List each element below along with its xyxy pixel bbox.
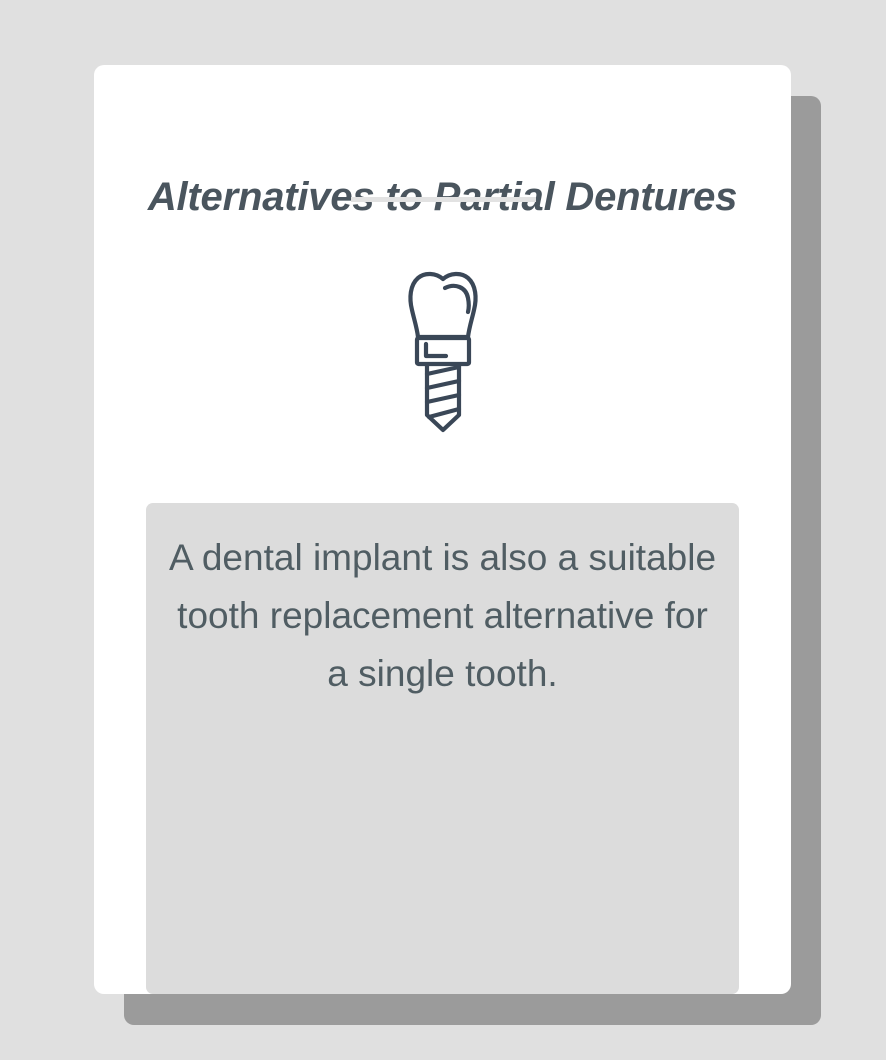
info-panel-text: A dental implant is also a suitable toot…: [168, 529, 717, 703]
content-card: Alternatives to Partial Dentures: [94, 65, 791, 994]
title-divider: [351, 197, 536, 202]
slide-canvas: Alternatives to Partial Dentures: [0, 0, 886, 1060]
info-panel: A dental implant is also a suitable toot…: [146, 503, 739, 994]
dental-implant-icon: [398, 270, 488, 440]
